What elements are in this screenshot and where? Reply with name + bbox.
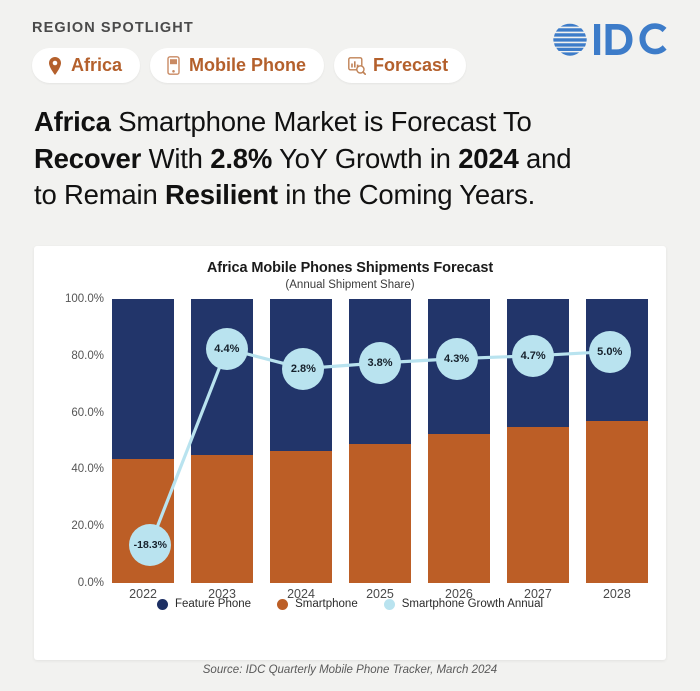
bar-segment-feature-phone xyxy=(112,299,174,459)
bar-column xyxy=(270,299,332,583)
y-tick-label: 20.0% xyxy=(71,520,104,532)
headline-strong-africa: Africa xyxy=(34,106,111,137)
legend-swatch xyxy=(157,599,168,610)
chart-subtitle: (Annual Shipment Share) xyxy=(34,279,666,291)
headline: Africa Smartphone Market is Forecast To … xyxy=(34,104,668,214)
headline-line-3: to Remain Resilient in the Coming Years. xyxy=(34,177,668,214)
source-note: Source: IDC Quarterly Mobile Phone Track… xyxy=(0,664,700,676)
headline-strong-year: 2024 xyxy=(458,143,518,174)
bar-segment-smartphone xyxy=(270,451,332,583)
pill-mobile-phone[interactable]: Mobile Phone xyxy=(150,48,324,83)
growth-value-bubble: 4.4% xyxy=(206,328,248,370)
plot-area: 100.0%80.0%60.0%40.0%20.0%0.0% -18.3%4.4… xyxy=(34,299,666,599)
legend-item[interactable]: Smartphone Growth Annual xyxy=(384,598,543,610)
headline-text-3a: to Remain xyxy=(34,179,165,210)
legend-label: Smartphone Growth Annual xyxy=(402,598,543,610)
infographic-page: REGION SPOTLIGHT Africa xyxy=(0,0,700,691)
pill-label-forecast: Forecast xyxy=(373,55,448,76)
idc-globe-icon xyxy=(553,23,586,56)
chart-card: Africa Mobile Phones Shipments Forecast … xyxy=(34,246,666,660)
pill-africa[interactable]: Africa xyxy=(32,48,140,83)
headline-strong-resilient: Resilient xyxy=(165,179,278,210)
headline-text-3b: in the Coming Years. xyxy=(278,179,535,210)
y-axis: 100.0%80.0%60.0%40.0%20.0%0.0% xyxy=(34,299,112,583)
legend-swatch xyxy=(277,599,288,610)
headline-strong-growth: 2.8% xyxy=(210,143,272,174)
chart-search-icon xyxy=(348,56,366,76)
bar-segment-smartphone xyxy=(507,427,569,583)
chart-legend: Feature PhoneSmartphoneSmartphone Growth… xyxy=(34,598,666,610)
headline-line-2: Recover With 2.8% YoY Growth in 2024 and xyxy=(34,141,668,178)
growth-value-bubble: 3.8% xyxy=(359,342,401,384)
y-tick-label: 100.0% xyxy=(65,293,104,305)
pill-label-africa: Africa xyxy=(71,55,122,76)
bar-segment-feature-phone xyxy=(191,299,253,455)
y-tick-label: 40.0% xyxy=(71,463,104,475)
growth-value-bubble: 5.0% xyxy=(589,331,631,373)
chart-title: Africa Mobile Phones Shipments Forecast xyxy=(34,246,666,276)
legend-label: Smartphone xyxy=(295,598,358,610)
plot-canvas: -18.3%4.4%2.8%3.8%4.3%4.7%5.0% xyxy=(112,299,648,583)
headline-strong-recover: Recover xyxy=(34,143,141,174)
headline-line-1: Africa Smartphone Market is Forecast To xyxy=(34,104,668,141)
header: REGION SPOTLIGHT Africa xyxy=(0,0,700,100)
headline-text-2c: and xyxy=(519,143,572,174)
growth-value-bubble: 4.3% xyxy=(436,338,478,380)
bar-segment-smartphone xyxy=(191,455,253,583)
growth-value-bubble: -18.3% xyxy=(129,524,171,566)
bar-segment-smartphone xyxy=(349,444,411,583)
bar-segment-smartphone xyxy=(428,434,490,583)
bar-segment-smartphone xyxy=(586,421,648,583)
growth-value-bubble: 4.7% xyxy=(512,335,554,377)
legend-item[interactable]: Smartphone xyxy=(277,598,358,610)
pill-forecast[interactable]: Forecast xyxy=(334,48,466,83)
legend-item[interactable]: Feature Phone xyxy=(157,598,251,610)
y-tick-label: 0.0% xyxy=(78,577,104,589)
legend-label: Feature Phone xyxy=(175,598,251,610)
headline-text-1: Smartphone Market is Forecast To xyxy=(111,106,532,137)
legend-swatch xyxy=(384,599,395,610)
y-tick-label: 60.0% xyxy=(71,407,104,419)
pill-label-mobile-phone: Mobile Phone xyxy=(189,55,306,76)
idc-logo xyxy=(548,18,672,62)
y-tick-label: 80.0% xyxy=(71,350,104,362)
mobile-phone-icon xyxy=(164,56,182,76)
map-pin-icon xyxy=(46,56,64,76)
growth-value-bubble: 2.8% xyxy=(282,348,324,390)
headline-text-2a: With xyxy=(141,143,210,174)
headline-text-2b: YoY Growth in xyxy=(272,143,458,174)
